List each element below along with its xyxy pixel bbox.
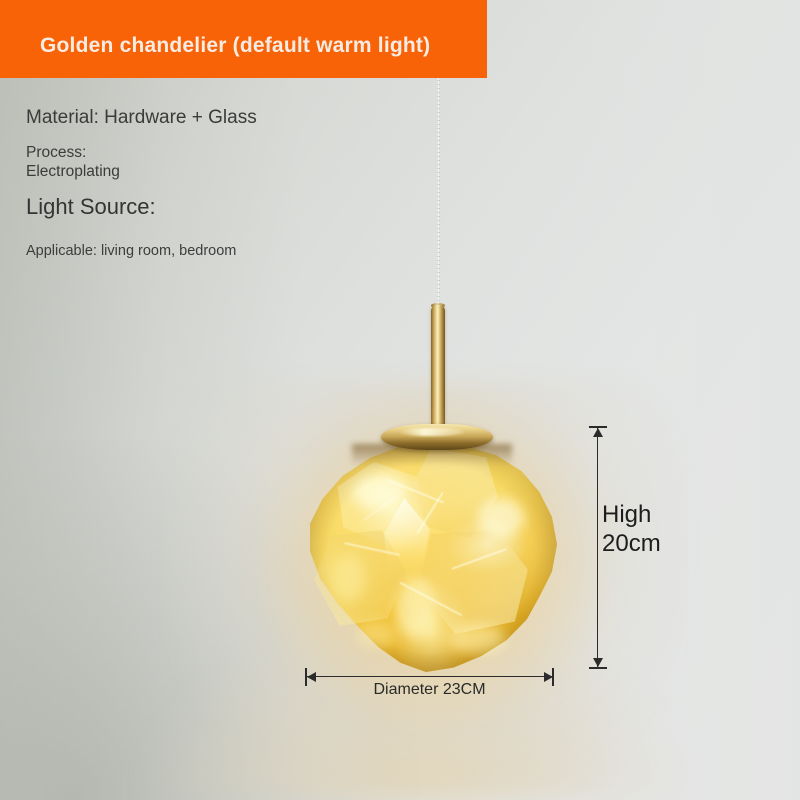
height-dimension-arrow-bottom xyxy=(593,658,603,667)
diameter-dimension-label: Diameter 23CM xyxy=(306,681,553,699)
spec-process: Process: Electroplating xyxy=(26,143,120,181)
height-dimension-line xyxy=(597,427,598,668)
glass-globe-assembly xyxy=(300,438,562,678)
height-dimension-label: High 20cm xyxy=(602,500,661,558)
canopy-highlight xyxy=(398,428,464,436)
spec-light-source: Light Source: xyxy=(26,194,156,220)
background-right-vignette xyxy=(580,0,800,800)
product-photo-scene: High 20cm Diameter 23CM Golden chandelie… xyxy=(0,0,800,800)
height-dimension-arrow-top xyxy=(593,428,603,437)
diameter-dimension-line xyxy=(306,676,553,677)
product-title: Golden chandelier (default warm light) xyxy=(40,24,440,68)
height-dimension-tick-bottom xyxy=(589,667,607,669)
spec-material: Material: Hardware + Glass xyxy=(26,107,257,129)
spec-applicable: Applicable: living room, bedroom xyxy=(26,243,236,259)
